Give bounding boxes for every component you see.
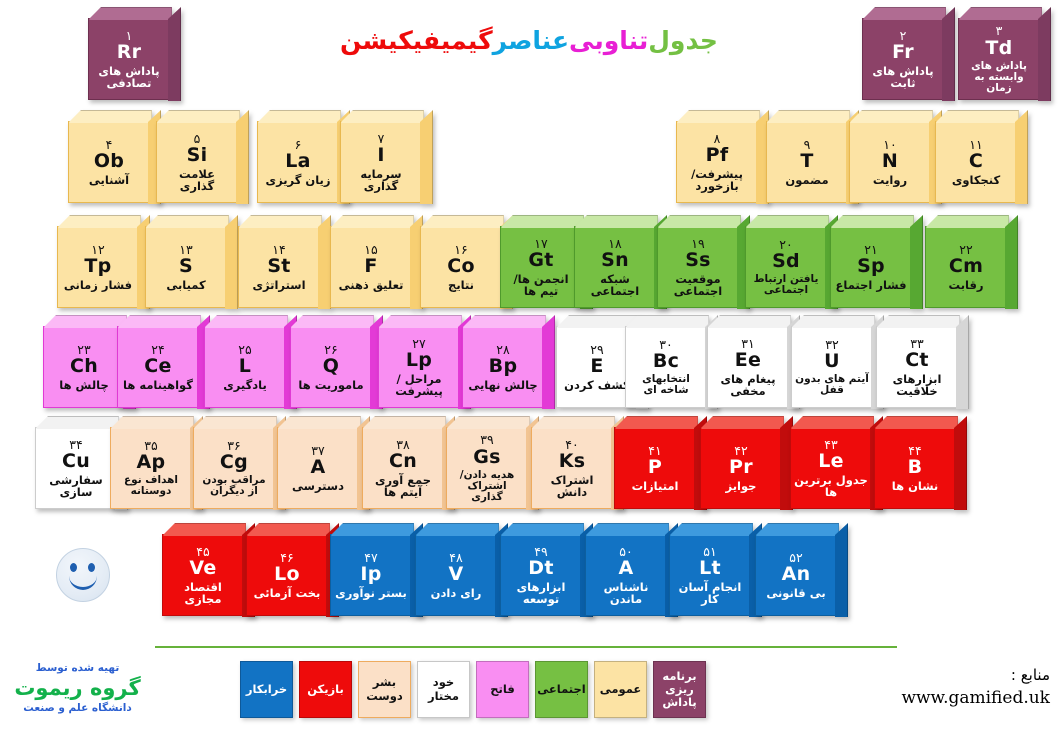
cube-top-face (239, 215, 322, 228)
element-name: نتایج (445, 279, 477, 291)
element-cell-ks-40[interactable]: ۴۰Ksاشتراک دانش (531, 427, 613, 509)
element-cell-rr-1[interactable]: ۱Rrپاداش های تصادفی (88, 18, 170, 100)
element-symbol: Sn (601, 251, 629, 271)
legend-swatch-player[interactable]: بازیکن (299, 661, 352, 718)
element-cell-la-6[interactable]: ۶Laزیان گریزی (257, 121, 339, 203)
cube-top-face (926, 215, 1009, 228)
element-symbol: Ob (94, 152, 124, 172)
element-symbol: Ap (137, 453, 166, 473)
cube-side-face (956, 315, 969, 409)
cube-top-face (756, 523, 839, 536)
cube-side-face (942, 7, 955, 101)
credits: تهیه شده توسط گروه ریموت دانشگاه علم و ص… (0, 662, 155, 714)
legend-label: عمومی (600, 683, 642, 696)
element-name: بخت آزمائی (251, 587, 324, 599)
title-word: جدول (648, 26, 718, 55)
element-cell-lt-51[interactable]: ۵۱Ltانجام آسان کار (669, 534, 751, 616)
element-symbol: Si (187, 146, 208, 166)
element-symbol: Le (818, 452, 844, 472)
credits-university: دانشگاه علم و صنعت (0, 702, 155, 714)
legend-swatch-social[interactable]: اجتماعی (535, 661, 588, 718)
cube-top-face (258, 110, 341, 123)
element-name: بستر نوآوری (332, 587, 410, 599)
element-cell-ee-31[interactable]: ۳۱Eeپیغام های مخفی (707, 326, 789, 408)
element-cell-cu-34[interactable]: ۳۴Cuسفارشی سازی (35, 427, 117, 509)
element-name: جمع آوری آیتم ها (363, 474, 443, 498)
cube-top-face (677, 110, 760, 123)
element-cell-a-37[interactable]: ۳۷Aدسترسی (277, 427, 359, 509)
element-cell-co-16[interactable]: ۱۶Coنتایج (420, 226, 502, 308)
cube-top-face (670, 523, 753, 536)
cube-top-face (163, 523, 246, 536)
element-cell-ch-23[interactable]: ۲۳Chچالش ها (43, 326, 125, 408)
element-symbol: Ee (735, 351, 761, 371)
element-name: گواهینامه ها (120, 379, 196, 391)
element-name: جدول برترین ها (791, 474, 871, 498)
element-symbol: Tp (84, 257, 111, 277)
legend-swatch-disruptor[interactable]: خرابکار (240, 661, 293, 718)
element-cell-bp-28[interactable]: ۲۸Bpچالش نهایی (462, 326, 544, 408)
element-cell-ss-19[interactable]: ۱۹Ssموقعیت اجتماعی (657, 226, 739, 308)
element-name: پیغام های مخفی (708, 373, 788, 397)
cube-top-face (194, 416, 277, 429)
element-cell-td-3[interactable]: ۳Tdپاداش های وابسته به زمان (958, 18, 1040, 100)
cube-top-face (658, 215, 741, 228)
legend: برنامه ریزی پاداشعمومیاجتماعیفاتحخود مخت… (240, 661, 706, 718)
element-cell-sp-21[interactable]: ۲۱Spفشار اجتماع (830, 226, 912, 308)
cube-top-face (767, 110, 850, 123)
element-symbol: P (648, 458, 662, 478)
element-symbol: Rr (117, 43, 142, 63)
cube-top-face (701, 416, 784, 429)
element-name: فشار زمانی (61, 279, 135, 291)
element-cell-an-52[interactable]: ۵۲Anبی قانونی (755, 534, 837, 616)
legend-swatch-general[interactable]: عمومی (594, 661, 647, 718)
smiley-mouth (69, 573, 97, 590)
element-cell-u-32[interactable]: ۳۲Uآیتم های بدون قفل (791, 326, 873, 408)
element-cell-f-15[interactable]: ۱۵Fتعلیق ذهنی (330, 226, 412, 308)
cube-side-face (236, 110, 249, 204)
cube-top-face (421, 215, 504, 228)
element-symbol: S (179, 257, 193, 277)
element-symbol: Ce (144, 357, 171, 377)
cube-top-face (416, 523, 499, 536)
element-symbol: Cn (389, 452, 417, 472)
element-name: فشار اجتماع (833, 279, 910, 291)
legend-label: فاتح (490, 683, 514, 696)
cube-top-face (379, 315, 462, 328)
element-name: جوایز (723, 480, 760, 492)
sources-label: منابع : (901, 666, 1050, 684)
element-number: ۳۹ (480, 433, 493, 446)
cube-side-face (910, 215, 923, 309)
element-symbol: Cu (62, 452, 90, 472)
element-symbol: L (239, 357, 251, 377)
legend-swatch-conqueror[interactable]: فاتح (476, 661, 529, 718)
periodic-table-poster: جدول تناوبی عناصر گیمیفیکیشن ۱Rrپاداش ها… (0, 0, 1058, 732)
element-symbol: Sd (772, 252, 800, 272)
cube-top-face (157, 110, 240, 123)
element-name: هدیه دادن/ اشتراک گذاری (447, 470, 527, 503)
element-cell-ob-4[interactable]: ۴Obآشنایی (68, 121, 150, 203)
cube-top-face (447, 416, 530, 429)
title-word: تناوبی (569, 26, 648, 55)
element-name: اشتراک دانش (532, 474, 612, 498)
cube-top-face (36, 416, 119, 429)
element-symbol: Gs (473, 448, 501, 468)
legend-label: بازیکن (307, 683, 344, 696)
element-name: دسترسی (289, 480, 347, 492)
cube-top-face (863, 7, 946, 20)
element-name: نشان ها (889, 480, 941, 492)
cube-top-face (331, 523, 414, 536)
element-symbol: An (782, 565, 811, 585)
element-cell-cm-22[interactable]: ۲۲Cmرقابت (925, 226, 1007, 308)
element-cell-c-11[interactable]: ۱۱Cکنجکاوی (935, 121, 1017, 203)
cube-top-face (501, 523, 584, 536)
element-symbol: Pf (706, 146, 729, 166)
cube-top-face (791, 416, 874, 429)
element-name: انتخابهای شاخه ای (626, 374, 706, 396)
element-cell-st-14[interactable]: ۱۴Stاستراتژی (238, 226, 320, 308)
cube-top-face (146, 215, 229, 228)
legend-label: خود مختار (420, 676, 467, 702)
element-cell-ct-33[interactable]: ۳۳Ctابزارهای خلاقیت (876, 326, 958, 408)
cube-side-face (420, 110, 433, 204)
element-name: آیتم های بدون قفل (792, 374, 872, 396)
smiley-face-icon (56, 548, 110, 602)
element-symbol: Dt (528, 559, 553, 579)
cube-top-face (291, 315, 374, 328)
element-symbol: Ch (70, 357, 98, 377)
element-cell-lo-46[interactable]: ۴۶Loبخت آزمائی (246, 534, 328, 616)
cube-top-face (89, 7, 172, 20)
element-name: تعلیق ذهنی (336, 279, 407, 291)
cube-top-face (111, 416, 194, 429)
cube-top-face (959, 7, 1042, 20)
element-name: امتیازات (629, 480, 682, 492)
cube-side-face (542, 315, 555, 409)
element-symbol: U (824, 352, 840, 372)
smiley-left-eye (70, 563, 77, 572)
element-cell-ve-45[interactable]: ۴۵Veاقتصاد مجازی (162, 534, 244, 616)
element-symbol: Gt (528, 251, 553, 271)
sources: منابع : www.gamified.uk (901, 666, 1050, 708)
element-cell-dt-49[interactable]: ۴۹Dtابزارهای توسعه (500, 534, 582, 616)
element-symbol: C (969, 152, 983, 172)
element-symbol: E (590, 357, 603, 377)
sources-url: www.gamified.uk (901, 688, 1050, 708)
element-name: مراقب بودن از دیگران (194, 475, 274, 497)
title-word: عناصر (493, 26, 569, 55)
legend-label: بشر دوست (361, 676, 408, 702)
cube-top-face (792, 315, 875, 328)
cube-top-face (363, 416, 446, 429)
cube-top-face (831, 215, 914, 228)
element-number: ۳ (996, 24, 1003, 37)
element-symbol: A (619, 559, 634, 579)
cube-top-face (501, 215, 584, 228)
element-name: کنجکاوی (949, 174, 1003, 186)
element-name: زیان گریزی (263, 174, 334, 186)
element-cell-q-26[interactable]: ۲۶Qماموریت ها (290, 326, 372, 408)
credits-group-name: گروه ریموت (0, 676, 155, 700)
element-symbol: Ip (360, 565, 381, 585)
element-name: چالش ها (56, 379, 111, 391)
cube-top-face (877, 315, 960, 328)
cube-top-face (69, 110, 152, 123)
element-symbol: Co (447, 257, 475, 277)
element-name: ابزارهای خلاقیت (877, 373, 957, 397)
element-name: ابزارهای توسعه (501, 581, 581, 605)
element-cell-si-5[interactable]: ۵Siعلامت گذاری (156, 121, 238, 203)
element-name: اهداف نوع دوستانه (111, 475, 191, 497)
element-name: رای دادن (428, 587, 485, 599)
element-cell-p-41[interactable]: ۴۱Pامتیازات (614, 427, 696, 509)
element-name: مضمون (782, 174, 831, 186)
element-symbol: A (311, 458, 326, 478)
element-cell-bc-30[interactable]: ۳۰Bcانتخابهای شاخه ای (625, 326, 707, 408)
element-cell-pf-8[interactable]: ۸Pfپیشرفت/ بازخورد (676, 121, 758, 203)
element-cell-gt-17[interactable]: ۱۷Gtانجمن ها/ تیم ها (500, 226, 582, 308)
element-cell-cn-38[interactable]: ۳۸Cnجمع آوری آیتم ها (362, 427, 444, 509)
cube-top-face (278, 416, 361, 429)
element-name: انجام آسان کار (670, 581, 750, 605)
element-cell-v-48[interactable]: ۴۸Vرای دادن (415, 534, 497, 616)
cube-top-face (341, 110, 424, 123)
element-cell-i-7[interactable]: ۷Iسرمایه گذاری (340, 121, 422, 203)
cube-top-face (44, 315, 127, 328)
legend-divider (155, 646, 897, 648)
element-name: یافتن ارتباط اجتماعی (746, 274, 826, 296)
element-cell-gs-39[interactable]: ۳۹Gsهدیه دادن/ اشتراک گذاری (446, 427, 528, 509)
element-symbol: V (449, 565, 464, 585)
cube-top-face (586, 523, 669, 536)
element-symbol: Cm (949, 257, 983, 277)
cube-top-face (746, 215, 829, 228)
element-name: مراحل / پیشرفت (379, 373, 459, 397)
element-symbol: N (882, 152, 898, 172)
element-symbol: Sp (857, 257, 885, 277)
element-cell-tp-12[interactable]: ۱۲Tpفشار زمانی (57, 226, 139, 308)
element-name: یادگیری (220, 379, 270, 391)
legend-swatch-philanthropist[interactable]: بشر دوست (358, 661, 411, 718)
cube-top-face (532, 416, 615, 429)
element-symbol: I (377, 146, 384, 166)
cube-side-face (1005, 215, 1018, 309)
element-name: ناشناس ماندن (586, 581, 666, 605)
cube-side-face (225, 215, 238, 309)
element-symbol: Lp (406, 351, 432, 371)
legend-label: اجتماعی (537, 683, 585, 696)
legend-label: خرابکار (246, 683, 287, 696)
element-name: بی قانونی (763, 587, 828, 599)
element-name: پاداش های ثابت (863, 65, 943, 89)
element-cell-b-44[interactable]: ۴۴Bنشان ها (874, 427, 956, 509)
element-symbol: Pr (729, 458, 753, 478)
element-cell-n-10[interactable]: ۱۰Nروایت (849, 121, 931, 203)
cube-side-face (1015, 110, 1028, 204)
element-name: پاداش های تصادفی (89, 65, 169, 89)
cube-top-face (205, 315, 288, 328)
legend-label: برنامه ریزی پاداش (656, 670, 703, 710)
element-symbol: Cg (220, 453, 248, 473)
element-symbol: Q (323, 357, 339, 377)
cube-top-face (331, 215, 414, 228)
cube-top-face (708, 315, 791, 328)
element-symbol: Ss (685, 251, 711, 271)
element-symbol: T (800, 152, 813, 172)
element-cell-ap-35[interactable]: ۳۵Apاهداف نوع دوستانه (110, 427, 192, 509)
element-symbol: Fr (892, 43, 914, 63)
element-name: روایت (870, 174, 910, 186)
element-name: سفارشی سازی (36, 474, 116, 498)
cube-top-face (936, 110, 1019, 123)
element-name: علامت گذاری (157, 168, 237, 192)
element-name: آشنایی (86, 174, 132, 186)
cube-top-face (118, 315, 201, 328)
cube-top-face (626, 315, 709, 328)
cube-side-face (835, 523, 848, 617)
element-cell-lp-27[interactable]: ۲۷Lpمراحل / پیشرفت (378, 326, 460, 408)
title-word: گیمیفیکیشن (340, 26, 493, 55)
element-name: انجمن ها/ تیم ها (501, 273, 581, 297)
smiley-right-eye (88, 563, 95, 572)
element-name: سرمایه گذاری (341, 168, 421, 192)
element-name: استراتژی (249, 279, 308, 291)
cube-side-face (168, 7, 181, 101)
element-symbol: Bp (489, 357, 518, 377)
element-name: پیشرفت/ بازخورد (677, 168, 757, 192)
element-cell-pr-42[interactable]: ۴۲Prجوایز (700, 427, 782, 509)
element-cell-a-50[interactable]: ۵۰Aناشناس ماندن (585, 534, 667, 616)
cube-side-face (1038, 7, 1051, 101)
cube-top-face (247, 523, 330, 536)
cube-top-face (58, 215, 141, 228)
element-cell-sn-18[interactable]: ۱۸Snشبکه اجتماعی (574, 226, 656, 308)
element-name: چالش نهایی (465, 379, 540, 391)
element-symbol: La (285, 152, 311, 172)
element-name: رقابت (946, 279, 987, 291)
element-symbol: B (908, 458, 923, 478)
element-symbol: St (267, 257, 290, 277)
element-symbol: Ct (905, 351, 929, 371)
element-name: شبکه اجتماعی (575, 273, 655, 297)
element-cell-s-13[interactable]: ۱۳Sکمیابی (145, 226, 227, 308)
element-cell-le-43[interactable]: ۴۳Leجدول برترین ها (790, 427, 872, 509)
element-cell-l-25[interactable]: ۲۵Lیادگیری (204, 326, 286, 408)
element-cell-ip-47[interactable]: ۴۷Ipبستر نوآوری (330, 534, 412, 616)
element-name: موقعیت اجتماعی (658, 273, 738, 297)
legend-swatch-reward[interactable]: برنامه ریزی پاداش (653, 661, 706, 718)
cube-top-face (850, 110, 933, 123)
element-name: ماموریت ها (295, 379, 366, 391)
element-name: کشف کردن (561, 379, 633, 391)
legend-swatch-autonomous[interactable]: خود مختار (417, 661, 470, 718)
element-cell-fr-2[interactable]: ۲Frپاداش های ثابت (862, 18, 944, 100)
element-cell-cg-36[interactable]: ۳۶Cgمراقب بودن از دیگران (193, 427, 275, 509)
cube-top-face (615, 416, 698, 429)
element-cell-ce-24[interactable]: ۲۴Ceگواهینامه ها (117, 326, 199, 408)
element-symbol: Bc (653, 352, 679, 372)
element-symbol: Lo (274, 565, 300, 585)
element-symbol: Ve (189, 559, 216, 579)
cube-side-face (954, 416, 967, 510)
cube-top-face (463, 315, 546, 328)
cube-top-face (575, 215, 658, 228)
cube-top-face (875, 416, 958, 429)
credits-prepared-by: تهیه شده توسط (0, 662, 155, 674)
element-symbol: Ks (559, 452, 586, 472)
element-symbol: F (364, 257, 377, 277)
element-symbol: Td (985, 39, 1012, 59)
element-name: اقتصاد مجازی (163, 581, 243, 605)
element-name: پاداش های وابسته به زمان (959, 61, 1039, 94)
element-symbol: Lt (699, 559, 721, 579)
element-cell-sd-20[interactable]: ۲۰Sdیافتن ارتباط اجتماعی (745, 226, 827, 308)
element-cell-t-9[interactable]: ۹Tمضمون (766, 121, 848, 203)
element-name: کمیابی (163, 279, 208, 291)
